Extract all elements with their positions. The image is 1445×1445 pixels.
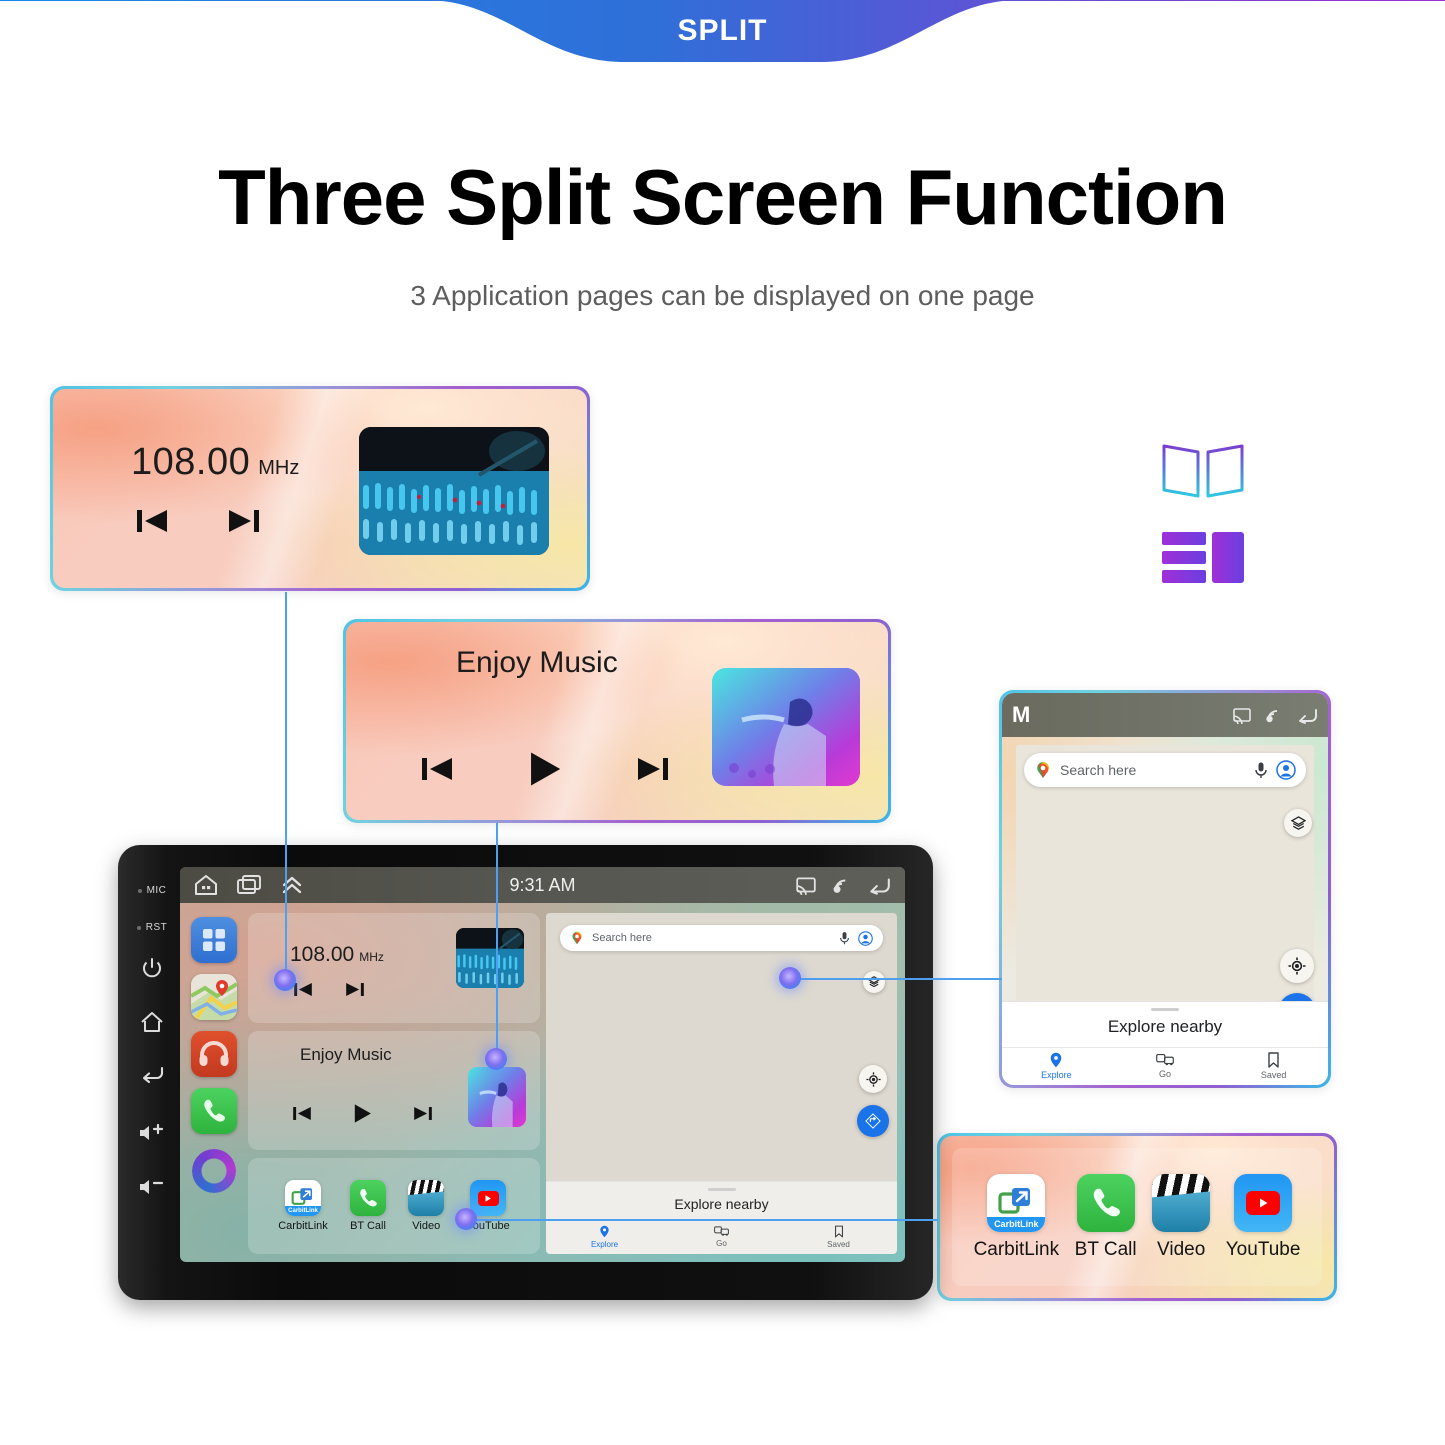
maps-tab-label: Saved — [1261, 1070, 1287, 1080]
volume-up-icon[interactable] — [138, 1123, 166, 1143]
singer-album-art — [468, 1067, 526, 1127]
map-layers-button[interactable] — [863, 971, 885, 993]
phone-glyph — [199, 1096, 229, 1126]
radio-frequency: 108.00MHz — [131, 441, 299, 484]
music-headphones-icon[interactable] — [191, 1031, 237, 1077]
banner-label: SPLIT — [0, 0, 1445, 62]
skip-previous-icon[interactable] — [135, 507, 169, 535]
assistant-ring-icon[interactable] — [192, 1149, 236, 1193]
statusbar-right-icons — [795, 876, 891, 895]
carbitlink-icon: CarbitLink — [285, 1180, 321, 1216]
layers-icon — [1291, 816, 1306, 831]
place-pin-icon — [1049, 1052, 1063, 1068]
back-icon[interactable] — [139, 1065, 165, 1085]
maps-statusbar: M — [1002, 693, 1328, 737]
radio-frequency-unit: MHz — [258, 457, 299, 479]
commute-icon — [1156, 1052, 1174, 1067]
map-bottom-tabs: Explore Go — [546, 1220, 897, 1254]
radio-callout-card: 108.00MHz — [50, 386, 590, 591]
skip-next-icon[interactable] — [636, 754, 670, 784]
radio-frequency-value: 108.00 — [131, 441, 250, 483]
microphone-icon[interactable] — [839, 931, 850, 945]
maps-tab-label: Go — [1159, 1069, 1171, 1079]
skip-previous-icon[interactable] — [292, 1105, 312, 1122]
maps-tab-label: Explore — [1041, 1070, 1072, 1080]
explore-nearby-sheet[interactable]: Explore nearby Explore — [546, 1181, 897, 1254]
youtube-icon — [470, 1180, 506, 1216]
music-title: Enjoy Music — [456, 646, 618, 680]
carbitlink-badge: CarbitLink — [285, 1206, 321, 1216]
maps-icon[interactable] — [191, 974, 237, 1020]
microphone-icon[interactable] — [1254, 761, 1268, 779]
headphones-glyph — [199, 1041, 229, 1067]
app-carbitlink[interactable]: CarbitLink CarbitLink — [278, 1180, 328, 1232]
music-callout-card: Enjoy Music — [343, 619, 891, 823]
page-title: Three Split Screen Function — [0, 152, 1445, 243]
google-maps-pin-icon — [1034, 761, 1052, 779]
apps-widget[interactable]: CarbitLink CarbitLink BT Call — [248, 1158, 540, 1254]
statusbar-left-icons — [194, 874, 304, 896]
bezel-mic: MIC — [138, 885, 167, 896]
youtube-icon — [1234, 1174, 1292, 1232]
cast-icon[interactable] — [1232, 707, 1252, 724]
volume-down-icon[interactable] — [138, 1177, 166, 1197]
connector-dot-maps — [779, 967, 801, 989]
skip-next-icon[interactable] — [227, 507, 261, 535]
phone-icon — [350, 1180, 386, 1216]
account-avatar-icon[interactable] — [1276, 760, 1296, 780]
back-icon[interactable] — [867, 876, 891, 895]
skip-previous-icon[interactable] — [293, 981, 313, 998]
my-location-icon — [866, 1072, 881, 1087]
connector-dot-music — [485, 1048, 507, 1070]
carbitlink-icon: CarbitLink — [987, 1174, 1045, 1232]
start-navigation-button[interactable] — [857, 1105, 889, 1137]
connector-radio — [285, 592, 287, 982]
map-layers-button[interactable] — [1284, 809, 1312, 837]
app-label: CarbitLink — [974, 1239, 1060, 1261]
skip-next-icon[interactable] — [345, 981, 365, 998]
connector-music — [496, 823, 498, 1063]
phone-glyph — [1087, 1184, 1125, 1222]
maps-tab-saved[interactable]: Saved — [780, 1225, 897, 1249]
maps-body: Search here — [1002, 737, 1328, 1085]
my-location-button[interactable] — [859, 1065, 887, 1093]
mixing-console-thumbnail — [359, 427, 549, 555]
bezel-reset[interactable]: RST — [137, 922, 168, 933]
app-label: Video — [412, 1220, 440, 1232]
home-icon[interactable] — [194, 874, 218, 896]
map-column: Search here — [546, 913, 897, 1254]
my-location-icon — [1288, 957, 1306, 975]
app-bt-call[interactable]: BT Call — [1075, 1174, 1137, 1261]
album-art — [468, 1067, 526, 1127]
maps-tab-label: Go — [716, 1239, 727, 1248]
bezel-label: MIC — [147, 885, 167, 896]
power-icon[interactable] — [141, 957, 163, 979]
screen-statusbar: 9:31 AM — [180, 867, 905, 903]
maps-tab-label: Saved — [827, 1240, 850, 1249]
maps-tab-explore[interactable]: Explore — [1002, 1052, 1111, 1080]
my-location-button[interactable] — [1280, 949, 1314, 983]
maps-tab-explore[interactable]: Explore — [546, 1225, 663, 1249]
split-layout-icon — [1160, 530, 1246, 586]
top-banner: SPLIT — [0, 0, 1445, 80]
bezel-label: RST — [146, 922, 168, 933]
map-search-placeholder: Search here — [592, 932, 652, 944]
home-icon[interactable] — [140, 1011, 164, 1033]
maps-glyph — [191, 974, 237, 1020]
map-panel[interactable]: Search here — [546, 913, 897, 1254]
page-subtitle: 3 Application pages can be displayed on … — [0, 280, 1445, 312]
maps-tab-label: Explore — [591, 1240, 618, 1249]
apps-callout-card: CarbitLink CarbitLink BT Call Video — [937, 1133, 1337, 1301]
skip-next-icon[interactable] — [413, 1105, 433, 1122]
wifi-icon[interactable] — [831, 876, 853, 895]
bookmark-icon — [1267, 1052, 1280, 1068]
app-bt-call[interactable]: BT Call — [350, 1180, 386, 1232]
clapper-stripes — [408, 1180, 444, 1195]
google-maps-pin-icon — [570, 931, 584, 945]
radio-widget-unit: MHz — [359, 950, 384, 964]
carbitlink-glyph — [998, 1186, 1034, 1220]
youtube-play-badge — [478, 1191, 499, 1206]
reset-pinhole — [137, 926, 141, 930]
apps-widget-row: CarbitLink CarbitLink BT Call — [248, 1158, 540, 1254]
radio-widget-frequency: 108.00MHz — [290, 943, 384, 967]
explore-nearby-label: Explore nearby — [1002, 1011, 1328, 1047]
all-apps-icon[interactable] — [191, 917, 237, 963]
apps-row: CarbitLink CarbitLink BT Call Video — [940, 1136, 1334, 1298]
phone-glyph — [356, 1186, 380, 1210]
radio-controls — [135, 507, 261, 535]
device-left-bezel: MIC RST — [128, 863, 176, 1282]
youtube-play-badge — [1246, 1191, 1280, 1215]
connector-maps — [790, 978, 1002, 980]
clapper-stripes — [1152, 1174, 1210, 1198]
app-carbitlink[interactable]: CarbitLink CarbitLink — [974, 1174, 1060, 1261]
maps-statusbar-icons — [1232, 707, 1318, 724]
phone-icon — [1077, 1174, 1135, 1232]
singer-album-art — [712, 668, 860, 786]
connector-dot-apps — [455, 1208, 477, 1230]
music-controls — [420, 750, 670, 788]
skip-previous-icon[interactable] — [420, 754, 454, 784]
device-screen: 9:31 AM — [180, 867, 905, 1262]
play-icon[interactable] — [526, 750, 564, 788]
video-clapper-icon — [408, 1180, 444, 1216]
bookmark-icon — [834, 1225, 844, 1238]
cast-icon[interactable] — [795, 876, 817, 895]
map-search-bar[interactable]: Search here — [560, 925, 883, 951]
app-label: CarbitLink — [278, 1220, 328, 1232]
app-label: BT Call — [1075, 1239, 1137, 1261]
album-art — [712, 668, 860, 786]
wifi-icon[interactable] — [1264, 707, 1284, 724]
thumbnail-art — [456, 928, 524, 988]
radio-widget-controls — [293, 981, 365, 998]
connector-dot-radio — [274, 969, 296, 991]
app-video[interactable]: Video — [1152, 1174, 1210, 1261]
screen-body: 108.00MHz — [180, 903, 905, 1262]
chevron-double-up-icon[interactable] — [280, 874, 304, 896]
back-icon[interactable] — [1296, 707, 1318, 724]
app-rail — [186, 913, 242, 1254]
phone-icon[interactable] — [191, 1088, 237, 1134]
music-widget-title: Enjoy Music — [300, 1045, 392, 1065]
app-label: BT Call — [350, 1220, 386, 1232]
account-avatar-icon[interactable] — [858, 931, 873, 946]
maps-tab-go[interactable]: Go — [663, 1225, 780, 1249]
maps-search-placeholder: Search here — [1060, 762, 1136, 778]
navigate-icon — [865, 1113, 881, 1129]
dual-pane-icon — [1160, 440, 1246, 502]
maps-tab-go[interactable]: Go — [1111, 1052, 1220, 1080]
app-video[interactable]: Video — [408, 1180, 444, 1232]
maps-tab-saved[interactable]: Saved — [1219, 1052, 1328, 1080]
play-triangle-icon — [484, 1194, 492, 1203]
play-icon[interactable] — [352, 1103, 373, 1124]
explore-nearby-sheet[interactable]: Explore nearby Explore — [1002, 1001, 1328, 1085]
radio-widget-value: 108.00 — [290, 943, 354, 966]
video-clapper-icon — [1152, 1174, 1210, 1232]
maps-search-bar[interactable]: Search here — [1024, 753, 1306, 787]
commute-icon — [714, 1225, 729, 1237]
mic-led — [138, 889, 142, 893]
connector-apps — [466, 1219, 938, 1221]
grid-glyph — [201, 927, 227, 953]
recent-apps-icon[interactable] — [236, 874, 262, 896]
maps-bottom-tabs: Explore Go Saved — [1002, 1047, 1328, 1085]
app-label: YouTube — [1226, 1239, 1301, 1261]
place-pin-icon — [599, 1225, 610, 1238]
mixing-console-thumbnail — [456, 928, 524, 988]
maps-callout-card: M — [999, 690, 1331, 1088]
carbitlink-badge: CarbitLink — [987, 1217, 1045, 1232]
thumbnail-art — [359, 427, 549, 555]
maps-app-letter: M — [1012, 702, 1030, 728]
head-unit-device: MIC RST — [118, 845, 933, 1300]
app-youtube[interactable]: YouTube — [1226, 1174, 1301, 1261]
music-widget-controls — [292, 1103, 433, 1124]
app-label: Video — [1157, 1239, 1205, 1261]
play-triangle-icon — [1258, 1197, 1269, 1209]
explore-nearby-label: Explore nearby — [546, 1191, 897, 1220]
